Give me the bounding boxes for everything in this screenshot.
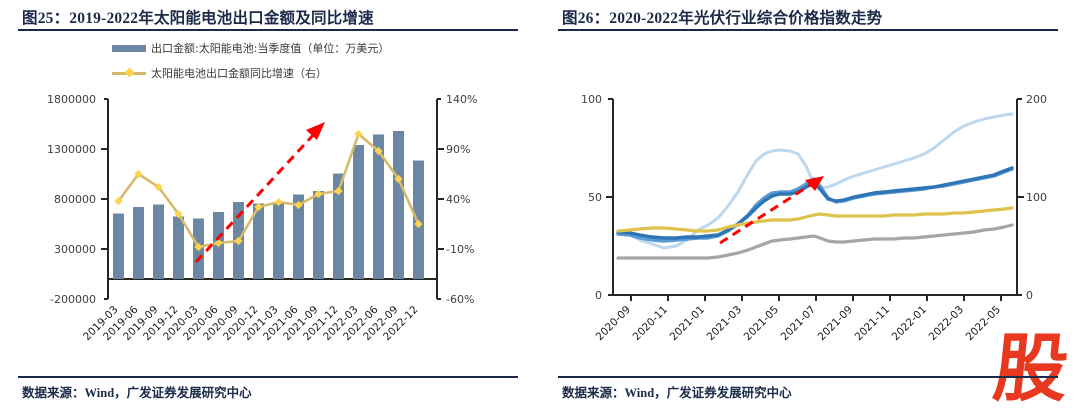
legend-line-swatch-icon	[112, 72, 146, 75]
y-axis-right-spine	[1017, 99, 1024, 295]
svg-text:2022-01: 2022-01	[890, 304, 930, 344]
svg-text:-200000: -200000	[50, 293, 96, 306]
bar	[273, 203, 284, 279]
svg-text:100: 100	[581, 93, 602, 106]
svg-text:2020-11: 2020-11	[631, 304, 671, 344]
svg-text:90%: 90%	[446, 143, 470, 156]
svg-text:2021-01: 2021-01	[668, 304, 708, 344]
bar	[173, 217, 184, 280]
svg-text:300000: 300000	[54, 243, 96, 256]
figure-panel-right: 图26：2020-2022年光伏行业综合价格指数走势 光伏行业综合价格指数(SP…	[540, 0, 1080, 406]
legend-item-export-amount: 出口金额:太阳能电池:当季度值（单位：万美元）	[112, 40, 389, 56]
x-axis-labels: 2020-09 2020-11 2021-01 2021-03 2021-05 …	[594, 304, 1004, 344]
trend-arrow-annotation	[720, 176, 824, 243]
bar	[113, 214, 124, 280]
bar	[133, 207, 144, 279]
bar-chart-left: 1800000 1300000 800000 300000 -200000 14…	[0, 88, 540, 376]
bar	[353, 145, 364, 279]
svg-text:1300000: 1300000	[47, 143, 96, 156]
legend-label: 太阳能电池出口金额同比增速（右）	[151, 65, 327, 81]
svg-text:200: 200	[1026, 93, 1047, 106]
bar-chart-svg: 1800000 1300000 800000 300000 -200000 14…	[0, 88, 540, 376]
figure-panel-left: 图25：2019-2022年太阳能电池出口金额及同比增速 出口金额:太阳能电池:…	[0, 0, 540, 406]
report-figure-page: 图25：2019-2022年太阳能电池出口金额及同比增速 出口金额:太阳能电池:…	[0, 0, 1080, 406]
data-source-right: 数据来源：Wind，广发证券发展研究中心	[562, 382, 792, 401]
watermark-stamp: 股	[991, 339, 1069, 400]
svg-text:0: 0	[1026, 289, 1033, 302]
title-divider-left	[18, 29, 518, 31]
svg-text:2021-11: 2021-11	[853, 304, 893, 344]
title-divider-right	[558, 29, 1058, 31]
svg-text:800000: 800000	[54, 193, 96, 206]
bar	[313, 191, 324, 279]
legend-bar-swatch-icon	[112, 45, 146, 52]
svg-text:2022-03: 2022-03	[927, 304, 967, 344]
bar	[393, 131, 404, 279]
legend-item-yoy-growth: 太阳能电池出口金额同比增速（右）	[112, 65, 389, 81]
svg-text:100: 100	[1026, 191, 1047, 204]
y-axis-left-labels: 1800000 1300000 800000 300000 -200000	[47, 93, 96, 306]
svg-text:40%: 40%	[446, 193, 470, 206]
svg-text:2021-07: 2021-07	[779, 304, 819, 344]
legend-label: 出口金额:太阳能电池:当季度值（单位：万美元）	[151, 40, 389, 56]
y-axis-right-spine	[437, 99, 444, 299]
svg-text:50: 50	[588, 191, 602, 204]
y-axis-left-labels: 100 50 0	[581, 93, 602, 302]
series-line-module	[618, 208, 1012, 231]
svg-text:0: 0	[595, 289, 602, 302]
x-axis	[613, 295, 1017, 301]
footer-divider-right	[558, 376, 1058, 378]
footer-divider-left	[18, 376, 518, 378]
svg-text:2021-09: 2021-09	[816, 304, 856, 344]
svg-text:1800000: 1800000	[47, 93, 96, 106]
page-title-left: 图25：2019-2022年太阳能电池出口金额及同比增速	[22, 6, 518, 28]
page-title-right: 图26：2020-2022年光伏行业综合价格指数走势	[562, 6, 1058, 28]
x-axis-labels: 2019-03 2019-06 2019-09 2019-12 2020-03 …	[81, 303, 421, 343]
data-source-left: 数据来源：Wind，广发证券发展研究中心	[22, 382, 252, 401]
bar	[413, 161, 424, 280]
svg-text:-10%: -10%	[446, 243, 474, 256]
svg-text:2020-09: 2020-09	[594, 304, 634, 344]
bar	[153, 205, 164, 280]
y-axis-right-labels: 200 100 0	[1026, 93, 1047, 302]
chart-legend-left: 出口金额:太阳能电池:当季度值（单位：万美元） 太阳能电池出口金额同比增速（右）	[112, 40, 389, 90]
y-axis-left-spine	[101, 99, 108, 299]
svg-text:2021-05: 2021-05	[742, 304, 782, 344]
svg-text:-60%: -60%	[446, 293, 474, 306]
svg-text:140%: 140%	[446, 93, 477, 106]
svg-text:2021-03: 2021-03	[705, 304, 745, 344]
y-axis-right-labels: 140% 90% 40% -10% -60%	[446, 93, 477, 306]
y-axis-left-spine	[606, 99, 613, 295]
